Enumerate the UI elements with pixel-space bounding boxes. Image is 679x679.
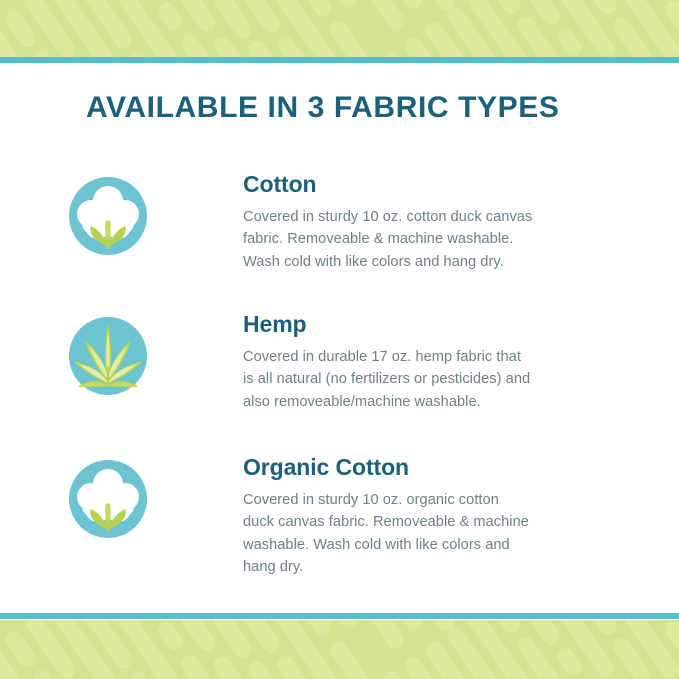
cotton-boll-icon [66,457,150,541]
diagonal-dash-pattern-icon [0,620,679,679]
fabric-text-block: Hemp Covered in durable 17 oz. hemp fabr… [243,312,613,413]
fabric-description: Covered in sturdy 10 oz. organic cotton … [243,489,613,578]
bottom-divider-rule [0,613,679,619]
fabric-heading: Hemp [243,312,613,337]
top-decorative-band [0,0,679,58]
fabric-text-block: Cotton Covered in sturdy 10 oz. cotton d… [243,172,613,273]
cotton-boll-icon [66,174,150,258]
top-divider-rule [0,57,679,63]
bottom-decorative-band [0,620,679,679]
fabric-description: Covered in sturdy 10 oz. cotton duck can… [243,206,613,273]
fabric-heading: Cotton [243,172,613,197]
diagonal-dash-pattern-icon [0,0,679,58]
hemp-leaf-icon [66,314,150,398]
list-item: Cotton Covered in sturdy 10 oz. cotton d… [0,160,679,300]
infographic-page: AVAILABLE IN 3 FABRIC TYPES [0,0,679,679]
fabric-description: Covered in durable 17 oz. hemp fabric th… [243,346,613,413]
page-title: AVAILABLE IN 3 FABRIC TYPES [86,91,559,125]
fabric-heading: Organic Cotton [243,455,613,480]
list-item: Organic Cotton Covered in sturdy 10 oz. … [0,443,679,583]
fabric-text-block: Organic Cotton Covered in sturdy 10 oz. … [243,455,613,578]
list-item: Hemp Covered in durable 17 oz. hemp fabr… [0,300,679,440]
